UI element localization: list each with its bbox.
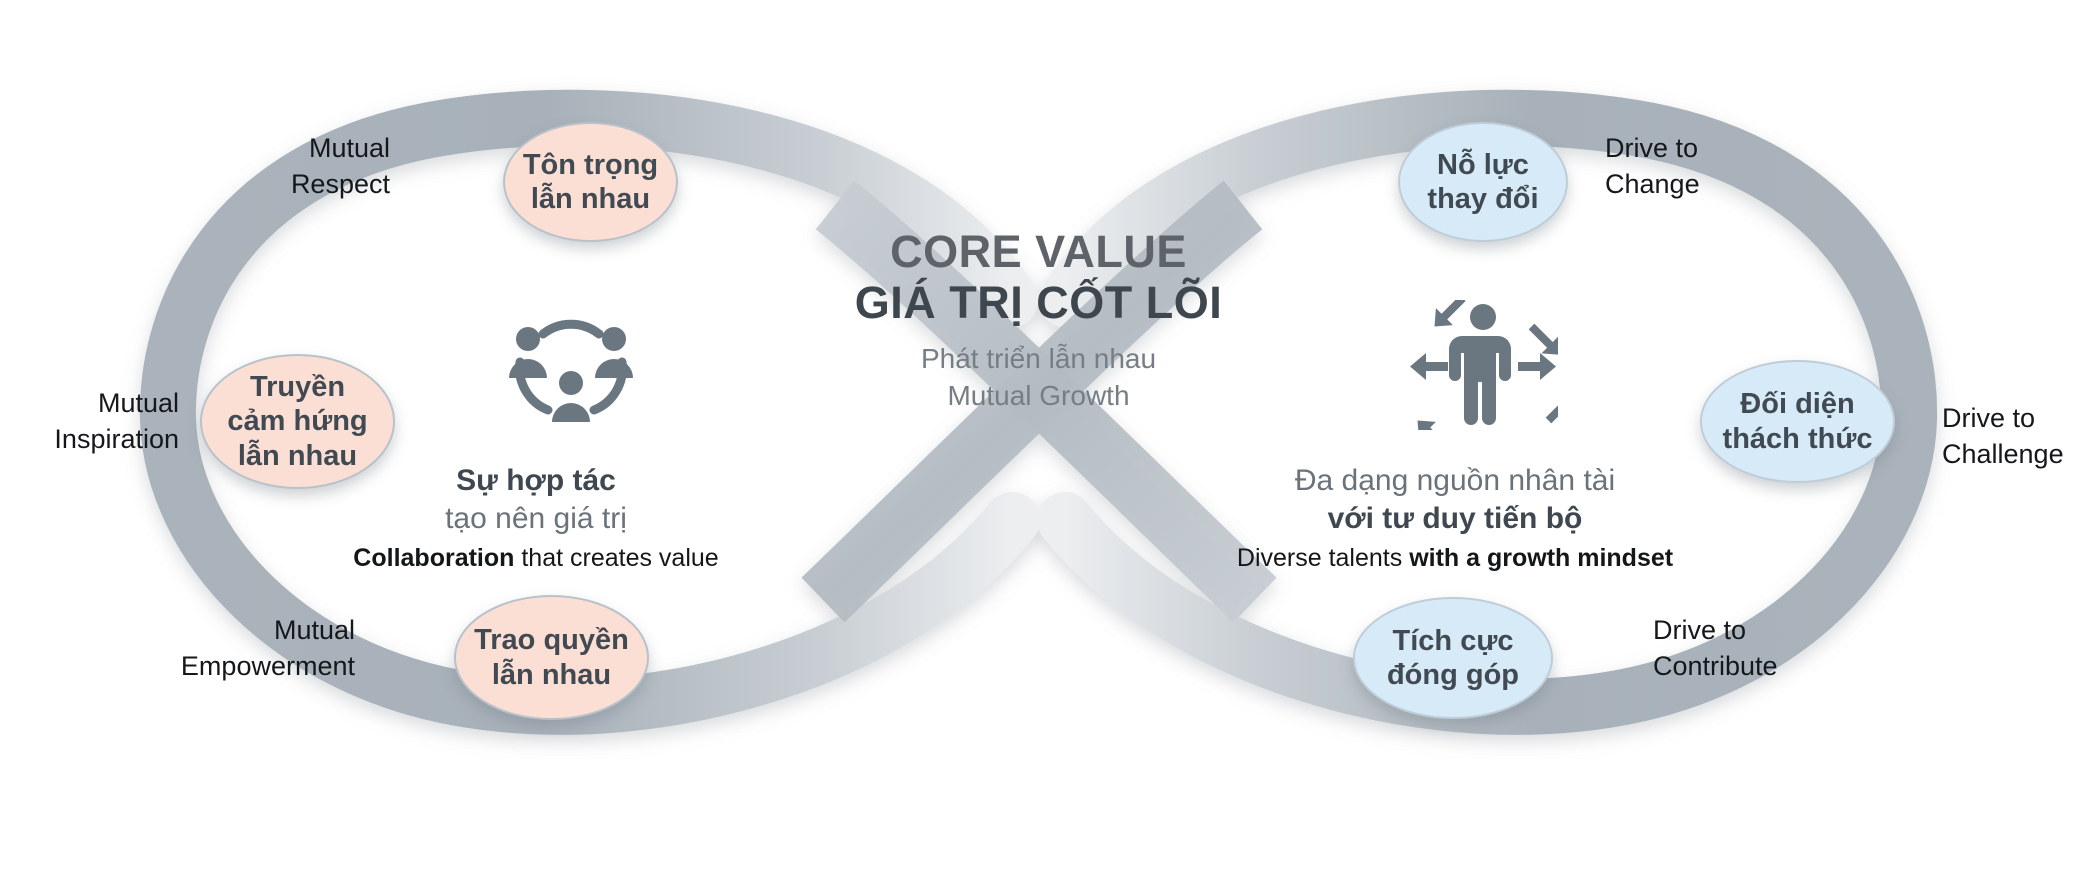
bubble-drive-to-challenge-line2: thách thức xyxy=(1723,422,1873,456)
bubble-drive-to-contribute-line1: Tích cực xyxy=(1387,624,1519,658)
label-mutual-inspiration: Mutual Inspiration xyxy=(24,385,179,458)
bubble-mutual-respect[interactable]: Tôn trọng lẫn nhau xyxy=(503,122,678,242)
bubble-drive-to-challenge[interactable]: Đối diện thách thức xyxy=(1700,360,1895,483)
core-value-title-vi: GIÁ TRỊ CỐT LÕI xyxy=(759,278,1319,328)
right-caption-line3: Diverse talents with a growth mindset xyxy=(905,542,2005,574)
bubble-drive-to-change-line1: Nỗ lực xyxy=(1427,148,1538,182)
left-caption-block: Sự hợp tác tạo nên giá trị Collaboration… xyxy=(321,462,751,574)
bubble-mutual-inspiration-line1: Truyền xyxy=(227,370,367,404)
bubble-mutual-inspiration-line2: cảm hứng xyxy=(227,404,367,438)
left-caption-line1: Sự hợp tác xyxy=(321,462,751,500)
core-value-subtitle-vi: Phát triển lẫn nhau xyxy=(759,340,1319,378)
label-mutual-respect: Mutual Respect xyxy=(280,130,390,203)
core-value-center-block: CORE VALUE GIÁ TRỊ CỐT LÕI Phát triển lẫ… xyxy=(759,228,1319,415)
bubble-drive-to-challenge-line1: Đối diện xyxy=(1723,387,1873,421)
right-caption-line2: với tư duy tiến bộ xyxy=(905,500,2005,538)
bubble-drive-to-change[interactable]: Nỗ lực thay đổi xyxy=(1398,122,1568,242)
bubble-mutual-empowerment[interactable]: Trao quyền lẫn nhau xyxy=(454,595,649,720)
bubble-drive-to-change-line2: thay đổi xyxy=(1427,182,1538,216)
label-drive-to-change: Drive to Change xyxy=(1605,130,1775,203)
infographic-canvas: CORE VALUE GIÁ TRỊ CỐT LÕI Phát triển lẫ… xyxy=(0,0,2077,889)
bubble-mutual-respect-line1: Tôn trọng xyxy=(523,148,658,182)
right-caption-line3-rest: Diverse talents xyxy=(1237,544,1409,572)
right-caption-line3-bold: with a growth mindset xyxy=(1409,544,1673,572)
collaboration-people-icon xyxy=(496,306,646,431)
bubble-mutual-respect-line2: lẫn nhau xyxy=(523,182,658,216)
label-mutual-empowerment: Mutual Empowerment xyxy=(150,612,355,685)
left-caption-line2: tạo nên giá trị xyxy=(321,500,751,538)
bubble-mutual-inspiration-line3: lẫn nhau xyxy=(227,439,367,473)
label-drive-to-contribute: Drive to Contribute xyxy=(1653,612,1843,685)
core-value-title-en: CORE VALUE xyxy=(759,228,1319,275)
left-caption-line3: Collaboration that creates value xyxy=(321,542,751,574)
right-caption-block: Đa dạng nguồn nhân tài với tư duy tiến b… xyxy=(905,462,2005,574)
bubble-drive-to-contribute-line2: đóng góp xyxy=(1387,658,1519,692)
bubble-mutual-empowerment-line1: Trao quyền xyxy=(474,623,629,657)
bubble-mutual-empowerment-line2: lẫn nhau xyxy=(474,658,629,692)
person-growth-arrows-icon xyxy=(1408,300,1558,425)
bubble-mutual-inspiration[interactable]: Truyền cảm hứng lẫn nhau xyxy=(200,354,395,489)
left-caption-line3-bold: Collaboration xyxy=(353,544,514,572)
left-caption-line3-rest: that creates value xyxy=(514,544,718,572)
bubble-drive-to-contribute[interactable]: Tích cực đóng góp xyxy=(1353,597,1553,719)
label-drive-to-challenge: Drive to Challenge xyxy=(1942,400,2077,473)
core-value-subtitle-en: Mutual Growth xyxy=(759,377,1319,415)
